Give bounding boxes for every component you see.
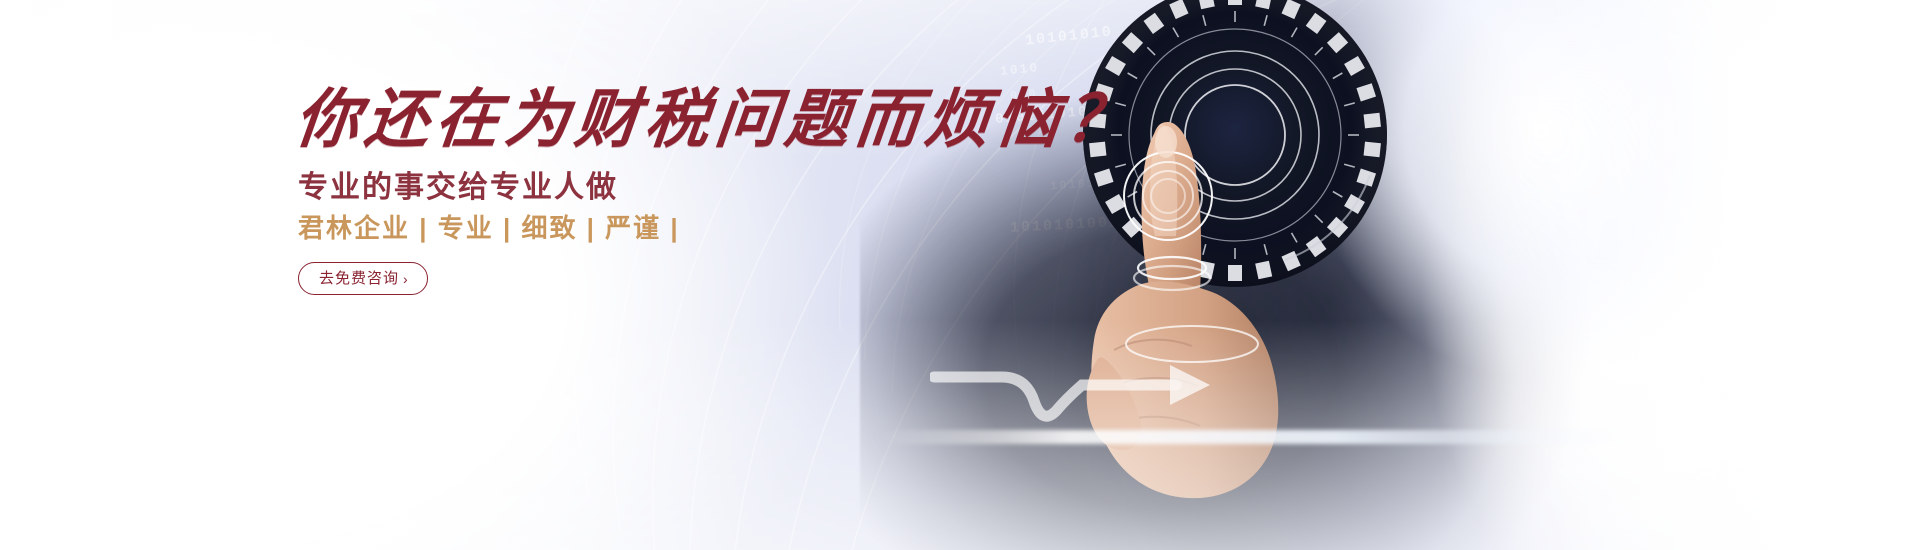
chevron-right-icon: › — [403, 272, 409, 286]
hero-banner: 1010101010100100101010101010101010101010… — [0, 0, 1920, 550]
banner-headline: 你还在为财税问题而烦恼？ — [291, 68, 1141, 160]
banner-tagline: 君林企业 | 专业 | 细致 | 严谨 | — [298, 208, 680, 245]
banner-content: 你还在为财税问题而烦恼？ 专业的事交给专业人做 君林企业 | 专业 | 细致 |… — [296, 0, 996, 550]
right-fade — [1440, 0, 1920, 550]
free-consultation-button[interactable]: 去免费咨询 › — [298, 262, 428, 295]
cta-label: 去免费咨询 — [319, 271, 399, 286]
banner-subtitle: 专业的事交给专业人做 — [298, 162, 618, 206]
